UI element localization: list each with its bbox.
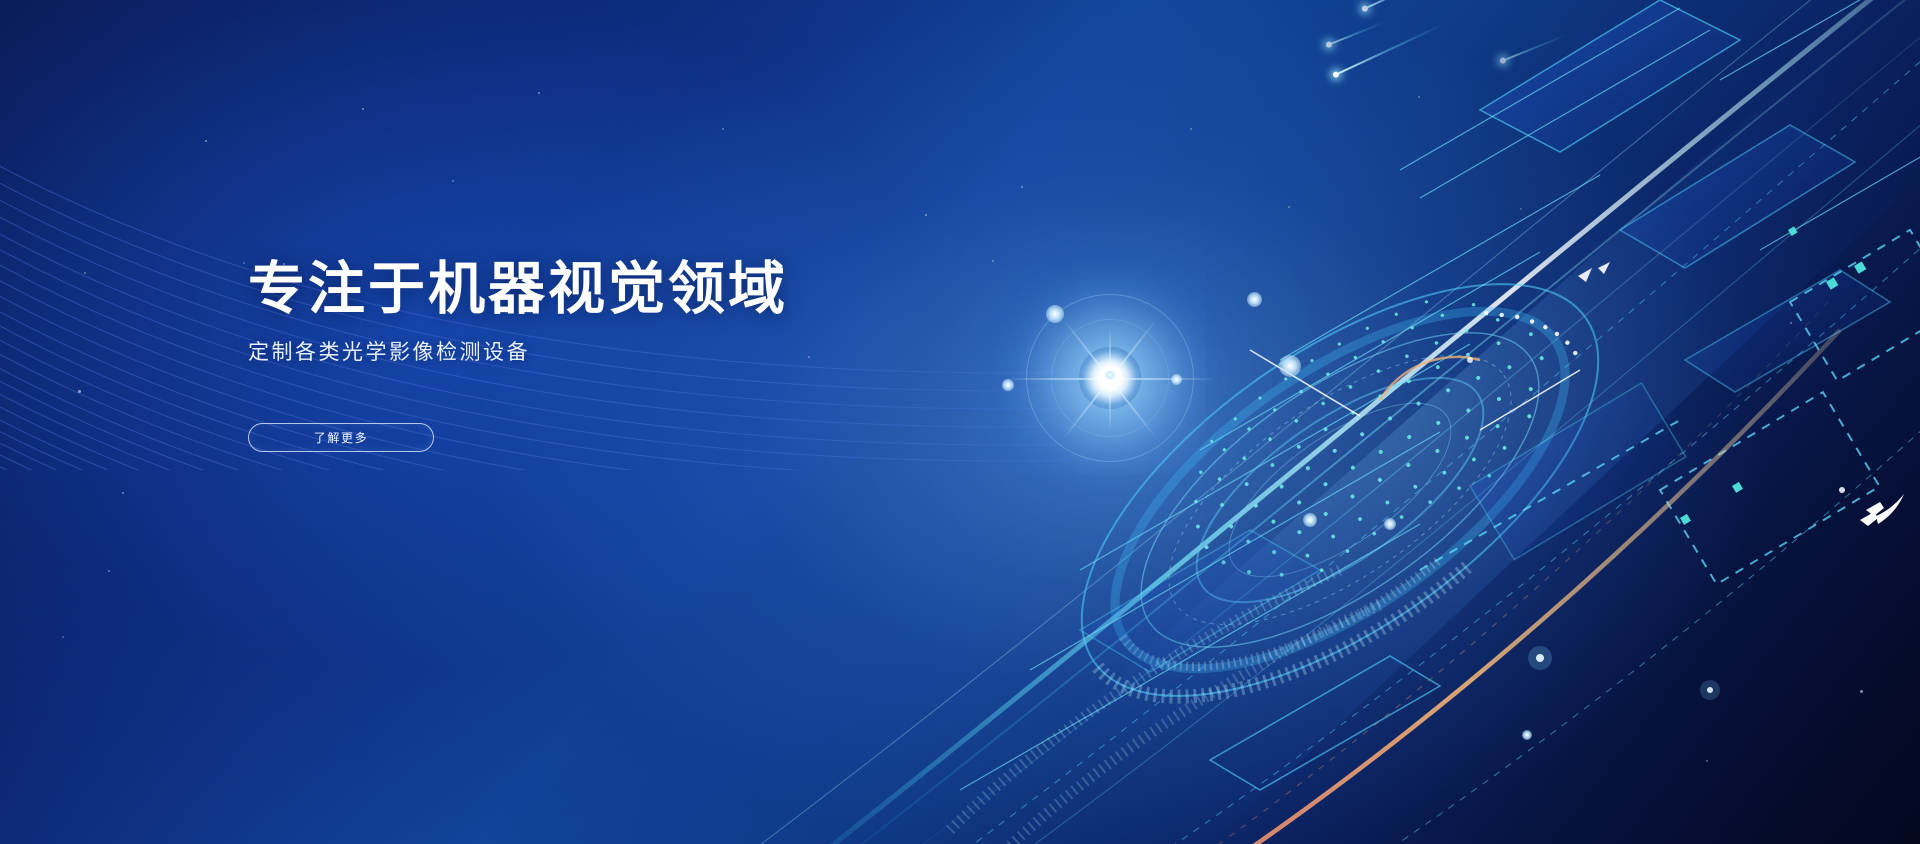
glow-dot xyxy=(1303,513,1317,527)
glow-dot xyxy=(1522,730,1532,740)
hero-banner: 专注于机器视觉领域 定制各类光学影像检测设备 了解更多 xyxy=(0,0,1920,844)
glow-dot xyxy=(1279,355,1301,377)
lens-flare-light xyxy=(1020,288,1200,468)
swoosh-mark xyxy=(1852,486,1910,532)
hero-copy: 专注于机器视觉领域 定制各类光学影像检测设备 了解更多 xyxy=(248,258,1008,452)
glow-dot xyxy=(1105,370,1115,380)
glow-dot xyxy=(1384,518,1396,530)
page-title: 专注于机器视觉领域 xyxy=(248,258,1008,322)
glow-dot xyxy=(1247,292,1262,307)
learn-more-button[interactable]: 了解更多 xyxy=(248,423,434,452)
glow-dot xyxy=(1171,374,1182,385)
page-subtitle: 定制各类光学影像检测设备 xyxy=(248,338,1008,367)
glow-dot xyxy=(1046,305,1064,323)
